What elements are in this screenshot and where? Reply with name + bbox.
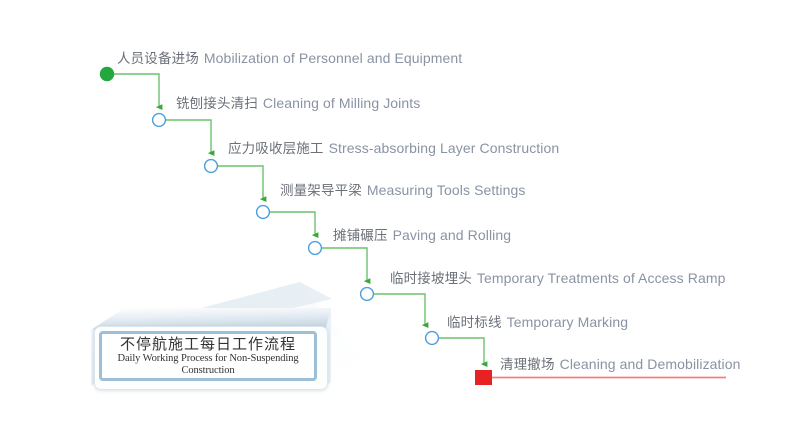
end-node[interactable] bbox=[475, 370, 492, 385]
step-label-1-en: Mobilization of Personnel and Equipment bbox=[204, 50, 462, 66]
step-label-2-en: Cleaning of Milling Joints bbox=[263, 95, 420, 111]
step-label-4: 测量架导平梁Measuring Tools Settings bbox=[280, 182, 525, 199]
step-node-2[interactable] bbox=[153, 114, 166, 127]
title-plate-title-en-line1: Daily Working Process for Non-Suspending bbox=[117, 353, 298, 366]
step-label-8-cn: 清理撤场 bbox=[500, 357, 555, 372]
flowchart-canvas: 人员设备进场Mobilization of Personnel and Equi… bbox=[0, 0, 800, 444]
connector-5-6 bbox=[322, 248, 367, 281]
title-plate-text: 不停航施工每日工作流程 Daily Working Process for No… bbox=[99, 331, 317, 381]
step-label-2: 铣刨接头清扫Cleaning of Milling Joints bbox=[176, 95, 420, 112]
connector-7-8 bbox=[439, 338, 484, 364]
step-label-1: 人员设备进场Mobilization of Personnel and Equi… bbox=[117, 50, 462, 67]
connector-3-4 bbox=[218, 166, 263, 199]
step-label-3-en: Stress-absorbing Layer Construction bbox=[329, 140, 560, 156]
step-node-3[interactable] bbox=[205, 160, 218, 173]
title-plate: 不停航施工每日工作流程 Daily Working Process for No… bbox=[88, 306, 334, 392]
step-label-5-cn: 摊铺碾压 bbox=[333, 228, 388, 243]
step-label-3-cn: 应力吸收层施工 bbox=[228, 141, 324, 156]
step-label-7-en: Temporary Marking bbox=[507, 314, 629, 330]
start-node[interactable] bbox=[100, 67, 114, 81]
step-label-5-en: Paving and Rolling bbox=[393, 227, 512, 243]
step-label-6-en: Temporary Treatments of Access Ramp bbox=[477, 270, 726, 286]
step-node-6[interactable] bbox=[361, 288, 374, 301]
connector-4-5 bbox=[270, 212, 315, 235]
step-label-1-cn: 人员设备进场 bbox=[117, 51, 199, 66]
step-label-6: 临时接坡埋头Temporary Treatments of Access Ram… bbox=[390, 270, 726, 287]
step-node-5[interactable] bbox=[309, 242, 322, 255]
step-label-7-cn: 临时标线 bbox=[447, 315, 502, 330]
step-label-4-cn: 测量架导平梁 bbox=[280, 183, 362, 198]
connector-2-3 bbox=[166, 120, 211, 153]
step-label-4-en: Measuring Tools Settings bbox=[367, 182, 526, 198]
step-node-7[interactable] bbox=[426, 332, 439, 345]
step-label-6-cn: 临时接坡埋头 bbox=[390, 271, 472, 286]
step-label-2-cn: 铣刨接头清扫 bbox=[176, 96, 258, 111]
connector-6-7 bbox=[374, 294, 425, 325]
title-plate-title-en-line2: Construction bbox=[181, 365, 234, 378]
step-node-4[interactable] bbox=[257, 206, 270, 219]
step-label-3: 应力吸收层施工Stress-absorbing Layer Constructi… bbox=[228, 140, 559, 157]
step-label-8: 清理撤场Cleaning and Demobilization bbox=[500, 356, 741, 373]
step-label-8-en: Cleaning and Demobilization bbox=[560, 356, 741, 372]
step-label-7: 临时标线Temporary Marking bbox=[447, 314, 628, 331]
connector-1-2 bbox=[114, 74, 159, 107]
step-label-5: 摊铺碾压Paving and Rolling bbox=[333, 227, 511, 244]
title-plate-title-cn: 不停航施工每日工作流程 bbox=[120, 335, 296, 353]
